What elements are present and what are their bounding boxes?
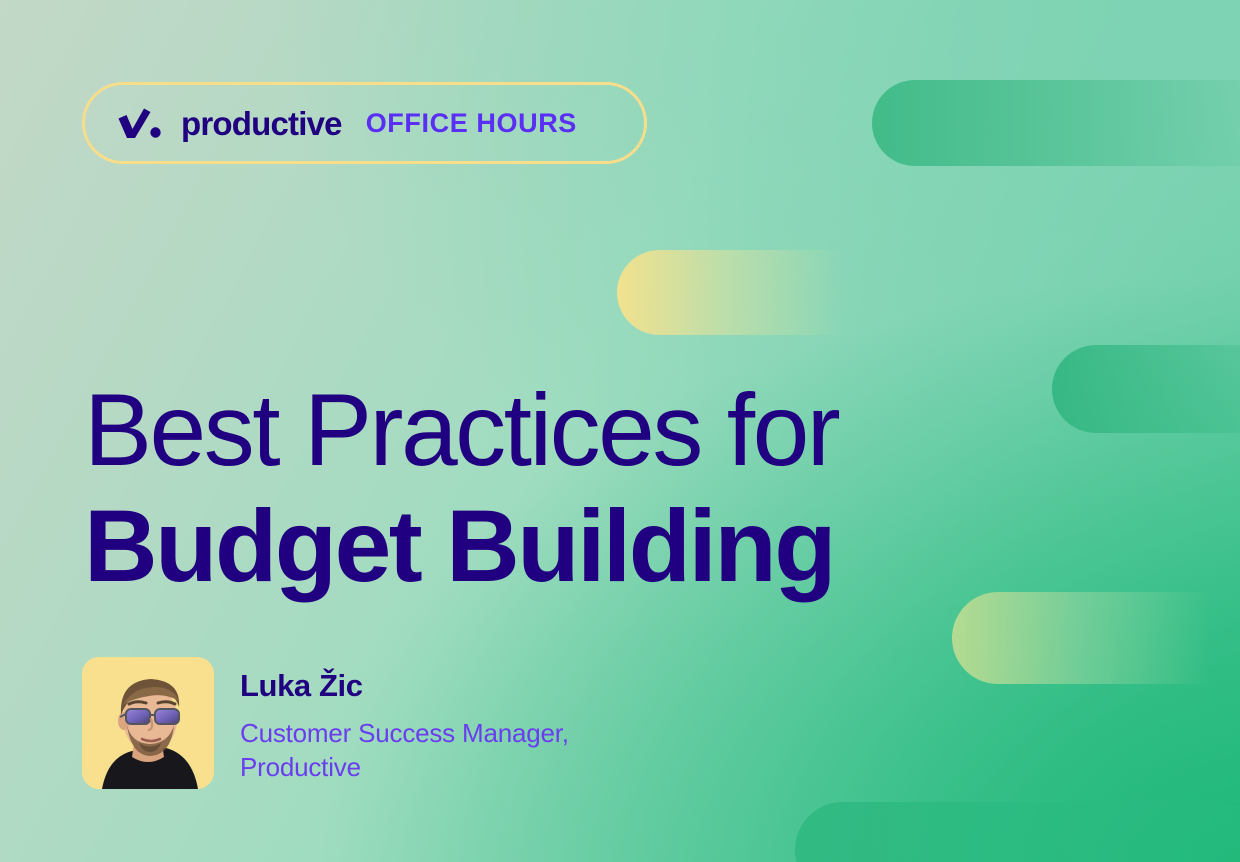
headline-line-2: Budget Building xyxy=(84,491,924,601)
series-label: OFFICE HOURS xyxy=(366,110,577,137)
avatar-illustration-icon xyxy=(82,657,214,789)
pill-yellow-center-decor xyxy=(617,250,907,335)
pill-mid-right-decor xyxy=(1052,345,1240,433)
brand-badge: productive OFFICE HOURS xyxy=(82,82,647,164)
pill-lower-right-decor xyxy=(952,592,1240,684)
speaker-block: Luka Žic Customer Success Manager, Produ… xyxy=(82,657,670,789)
speaker-portrait-avatar xyxy=(82,657,214,789)
pill-top-right-decor xyxy=(872,80,1240,166)
headline-block: Best Practices for Budget Building xyxy=(84,375,924,601)
brand-wordmark: productive xyxy=(181,107,342,140)
checkmark-dot-logo-icon xyxy=(117,107,161,139)
speaker-name: Luka Žic xyxy=(240,669,670,703)
promo-card: productive OFFICE HOURS Best Practices f… xyxy=(0,0,1240,862)
pill-bottom-right-decor xyxy=(795,802,1240,862)
headline-line-1: Best Practices for xyxy=(84,375,924,485)
speaker-role: Customer Success Manager, Productive xyxy=(240,716,670,785)
speaker-text-block: Luka Žic Customer Success Manager, Produ… xyxy=(240,657,670,785)
